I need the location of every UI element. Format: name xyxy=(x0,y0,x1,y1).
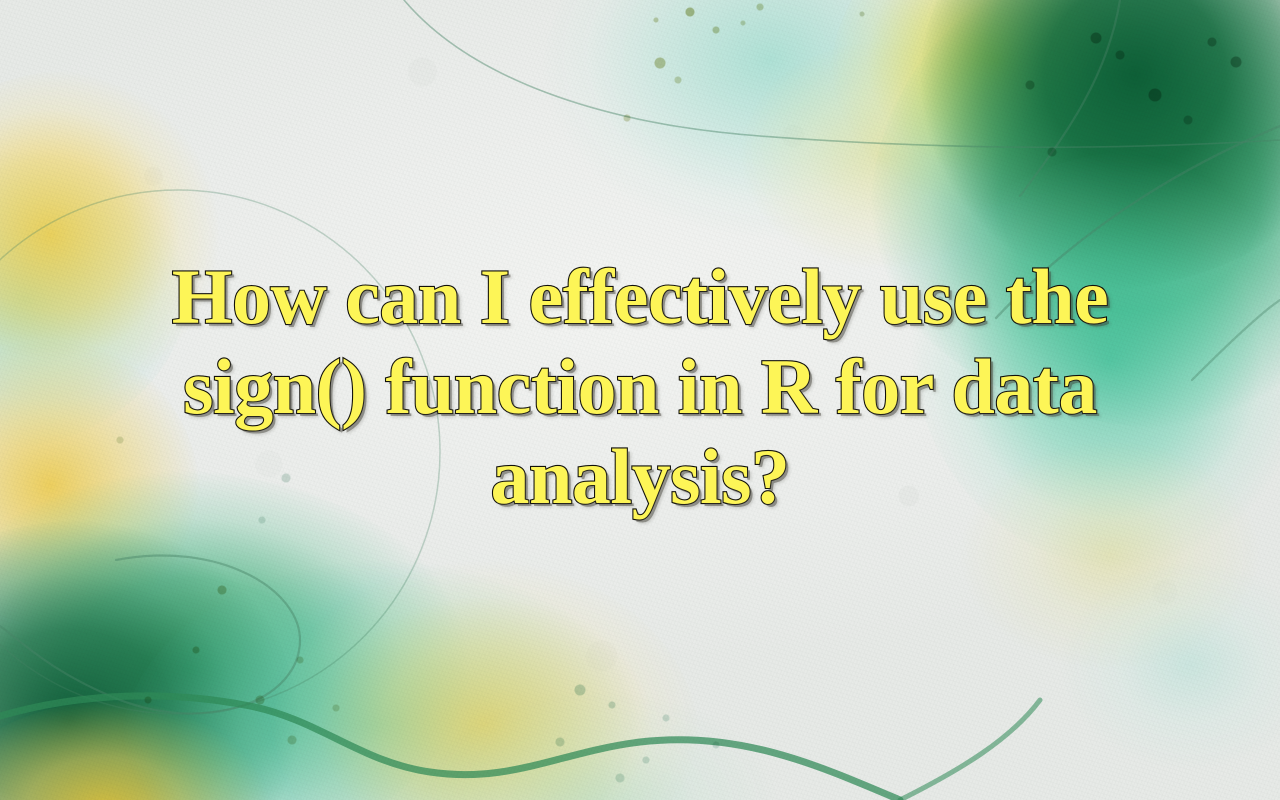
headline-container: How can I effectively use the sign() fun… xyxy=(0,252,1280,522)
ink-curve-bottom-thick-tail xyxy=(900,700,1040,800)
ink-curve-bottom-thick xyxy=(0,696,900,800)
page-title: How can I effectively use the sign() fun… xyxy=(56,252,1224,522)
ink-curve-top-right-a xyxy=(1020,0,1120,196)
ink-loop-bottom-left xyxy=(0,555,300,713)
ink-curve-top xyxy=(404,0,1280,147)
title-card: How can I effectively use the sign() fun… xyxy=(0,0,1280,800)
